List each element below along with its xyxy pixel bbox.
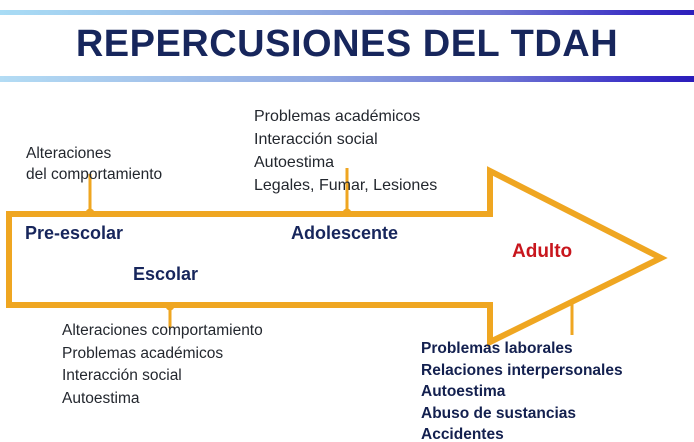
stage-label-pre-escolar: Pre-escolar (25, 223, 123, 244)
annotation-line: Problemas académicos (62, 343, 263, 366)
annotation-adult: Problemas laborales Relaciones interpers… (421, 338, 623, 442)
annotation-line: Interacción social (254, 128, 437, 151)
annotation-line: Accidentes (421, 424, 623, 442)
title-top-divider (0, 10, 694, 15)
annotation-line: Relaciones interpersonales (421, 360, 623, 382)
annotation-line: Interacción social (62, 365, 263, 388)
annotation-adolescent: Problemas académicos Interacción social … (254, 105, 437, 197)
annotation-line: Problemas académicos (254, 105, 437, 128)
annotation-line: Autoestima (421, 381, 623, 403)
annotation-line: Problemas laborales (421, 338, 623, 360)
annotation-line: Alteraciones comportamiento (62, 320, 263, 343)
page-title: REPERCUSIONES DEL TDAH (0, 18, 694, 70)
stage-label-escolar: Escolar (133, 264, 198, 285)
title-bottom-divider (0, 76, 694, 82)
stage-label-adolescente: Adolescente (291, 223, 398, 244)
slide-canvas: REPERCUSIONES DEL TDAH Pre-escolar Adole… (0, 0, 694, 442)
annotation-line: Abuso de sustancias (421, 403, 623, 425)
annotation-line: Alteraciones (26, 143, 162, 164)
annotation-line: Autoestima (62, 388, 263, 411)
annotation-school: Alteraciones comportamiento Problemas ac… (62, 320, 263, 410)
annotation-line: Legales, Fumar, Lesiones (254, 174, 437, 197)
annotation-line: Autoestima (254, 151, 437, 174)
annotation-preschool: Alteraciones del comportamiento (26, 143, 162, 185)
annotation-line: del comportamiento (26, 164, 162, 185)
stage-label-adulto: Adulto (512, 241, 572, 263)
